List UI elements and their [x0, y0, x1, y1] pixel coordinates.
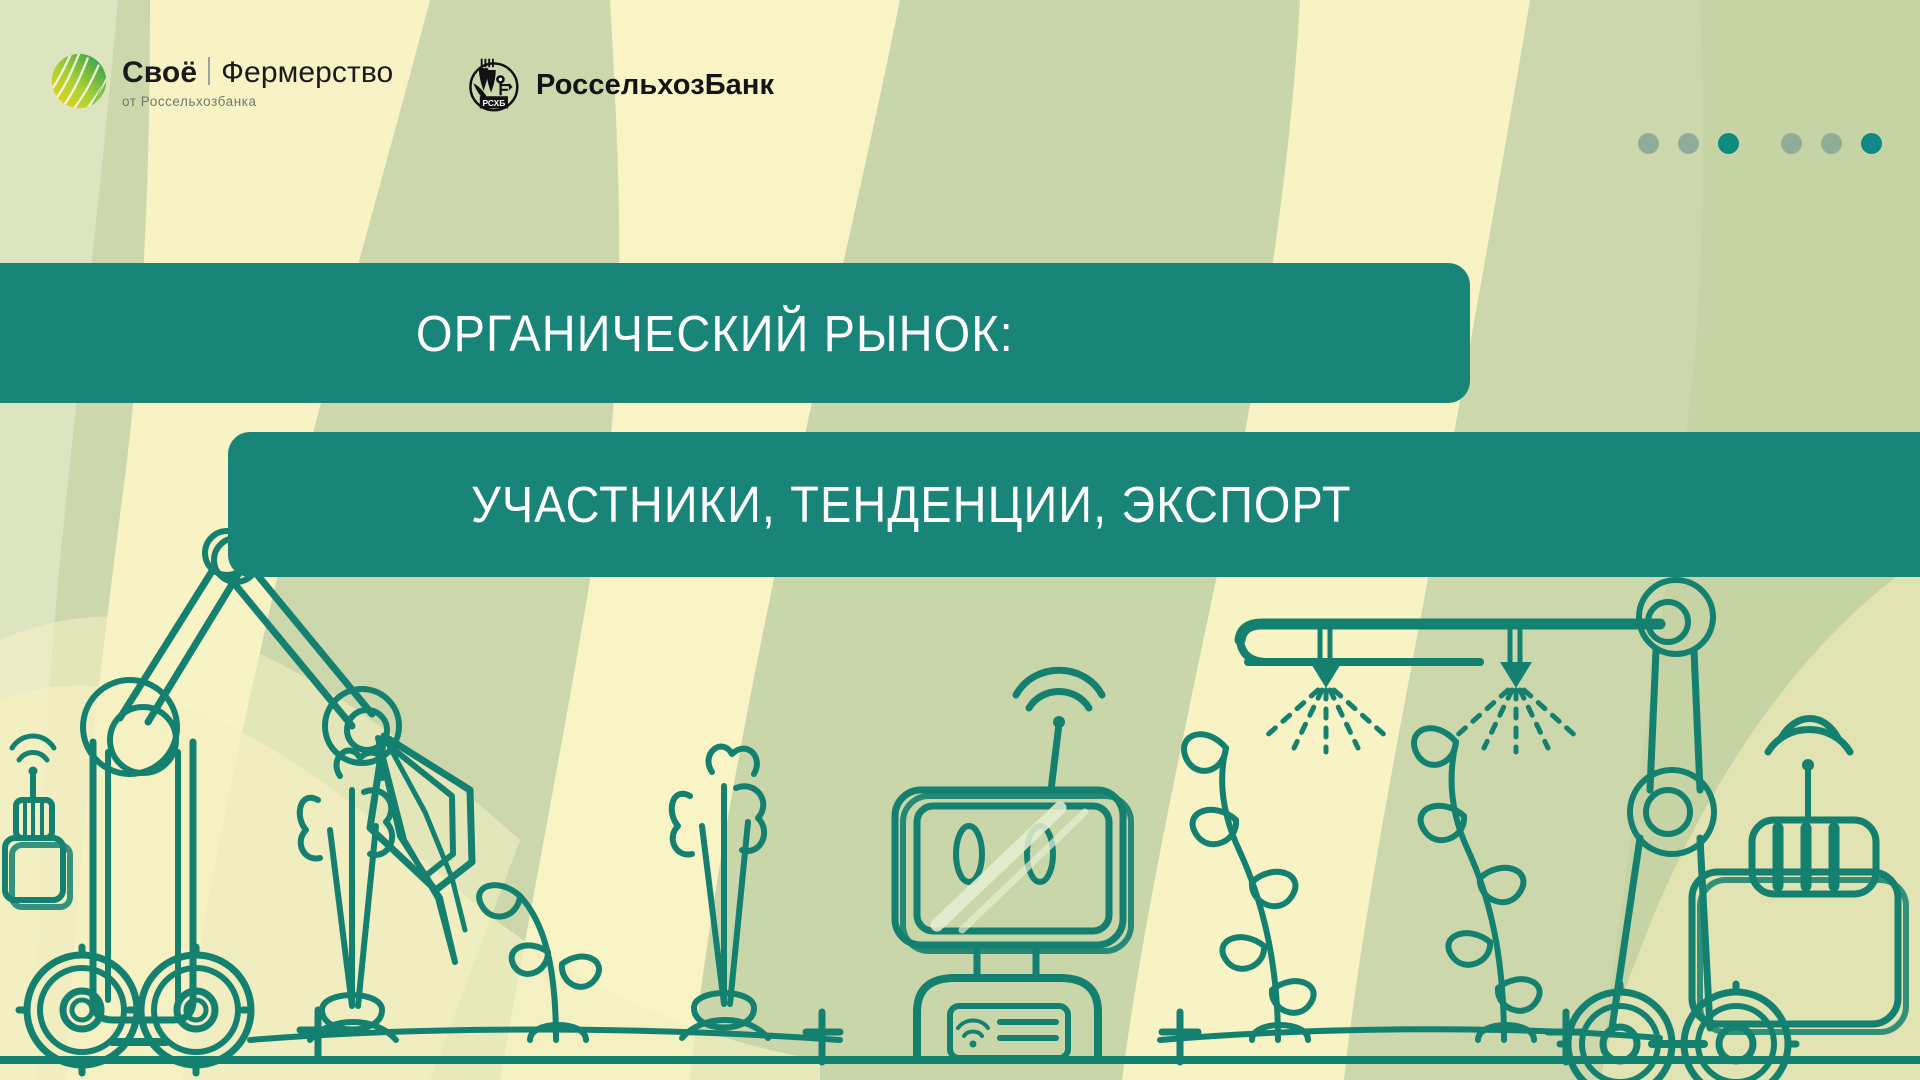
- rshb-wheat-key-logo-icon: РСХБ: [462, 55, 522, 115]
- beet-plant-2: [672, 747, 768, 1038]
- pager-dot-6[interactable]: [1861, 133, 1882, 154]
- logo-rosselkhozbank[interactable]: РСХБ РоссельхозБанк: [462, 55, 774, 115]
- title-bar-secondary: УЧАСТНИКИ, ТЕНДЕНЦИИ, ЭКСПОРТ: [228, 432, 1920, 577]
- robotic-arm-vehicle-left: [19, 531, 472, 1073]
- title-bar-primary: ОРГАНИЧЕСКИЙ РЫНОК:: [0, 263, 1470, 403]
- seedling-sprout-1: [479, 885, 599, 1040]
- wifi-sensor-post-left: [5, 736, 70, 907]
- slide-header: Своё Фермерство от Россельхозбанка: [0, 0, 1920, 165]
- pager-dot-3[interactable]: [1718, 133, 1739, 154]
- vine-plant-1: [1184, 734, 1314, 1040]
- logo-divider: [208, 57, 210, 85]
- slide-progress-dots[interactable]: [1638, 133, 1882, 154]
- logo-svoe-fermerstvo[interactable]: Своё Фермерство от Россельхозбанка: [50, 52, 393, 110]
- pager-dot-1[interactable]: [1638, 133, 1659, 154]
- beet-plant-1: [300, 751, 396, 1040]
- logo-rshb-word: РоссельхозБанк: [536, 69, 774, 102]
- field-robot-center: [895, 670, 1131, 1058]
- tracked-wheels-left: [19, 947, 251, 1073]
- vine-plant-2: [1414, 728, 1540, 1040]
- svoe-circle-logo-icon: [50, 52, 108, 110]
- pager-dot-4[interactable]: [1781, 133, 1802, 154]
- logo-svoe-subtitle: от Россельхозбанка: [122, 94, 393, 109]
- robotic-arm-vehicle-right: [1530, 580, 1906, 1080]
- title-line-1: ОРГАНИЧЕСКИЙ РЫНОК:: [416, 304, 1014, 363]
- title-line-2: УЧАСТНИКИ, ТЕНДЕНЦИИ, ЭКСПОРТ: [471, 475, 1352, 534]
- svg-text:РСХБ: РСХБ: [482, 98, 505, 108]
- logo-fermerstvo-word: Фермерство: [221, 56, 393, 90]
- pager-dot-5[interactable]: [1821, 133, 1842, 154]
- slide-root: Своё Фермерство от Россельхозбанка: [0, 0, 1920, 1080]
- pager-dot-2[interactable]: [1678, 133, 1699, 154]
- logo-svoe-word: Своё: [122, 56, 197, 90]
